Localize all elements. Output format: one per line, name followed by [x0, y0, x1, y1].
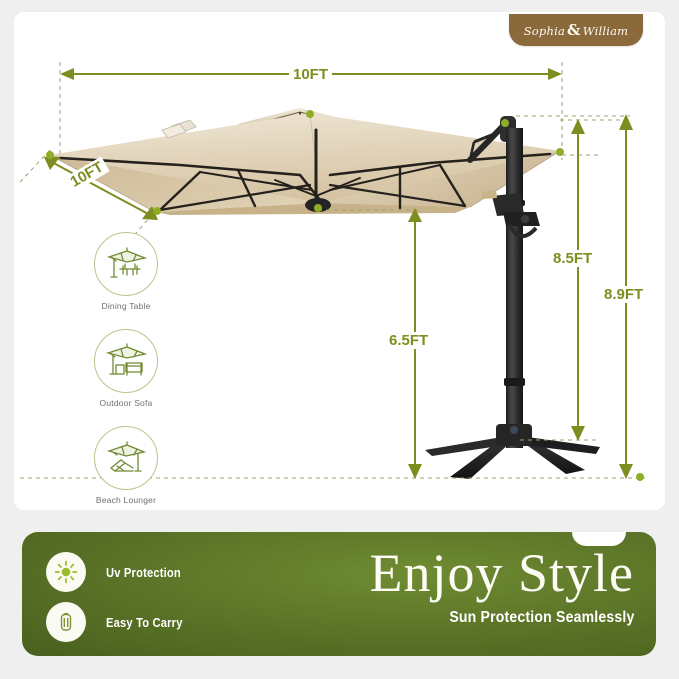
dimension-label-top-width: 10FT [289, 66, 332, 83]
promo-banner: Uv Protection Easy To Carry [22, 532, 656, 656]
beach-lounger-icon-circle [94, 426, 158, 490]
use-case-outdoor-sofa: Outdoor Sofa [80, 329, 172, 408]
outdoor-sofa-icon-circle [94, 329, 158, 393]
sun-icon-circle [46, 552, 86, 592]
dining-table-icon [103, 244, 149, 284]
infographic-page: Sophia&William [0, 0, 679, 679]
dimension-label-pole-height: 8.5FT [549, 250, 596, 267]
use-case-beach-lounger: Beach Lounger [80, 426, 172, 505]
banner-headline: Enjoy Style [370, 546, 635, 600]
use-case-label: Beach Lounger [80, 495, 172, 505]
feature-easy-to-carry: Easy To Carry [46, 600, 195, 644]
feature-label: Easy To Carry [106, 615, 183, 630]
carry-bag-icon-circle [46, 602, 86, 642]
carry-bag-icon [54, 610, 78, 634]
use-case-list: Dining Table [80, 232, 172, 523]
use-case-label: Dining Table [80, 301, 172, 311]
banner-headline-block: Enjoy Style Sun Protection Seamlessly [370, 546, 635, 627]
banner-subheadline: Sun Protection Seamlessly [401, 609, 634, 627]
dimension-label-canopy-height: 6.5FT [385, 332, 432, 349]
dining-table-icon-circle [94, 232, 158, 296]
feature-label: Uv Protection [106, 565, 181, 580]
sun-icon [54, 560, 78, 584]
use-case-dining-table: Dining Table [80, 232, 172, 311]
dimension-label-total-height: 8.9FT [600, 286, 647, 303]
dimension-label-side-width: 10FT [64, 156, 110, 192]
outdoor-sofa-icon [103, 341, 149, 381]
feature-list: Uv Protection Easy To Carry [46, 550, 195, 650]
feature-uv-protection: Uv Protection [46, 550, 195, 594]
beach-lounger-icon [103, 438, 149, 478]
use-case-label: Outdoor Sofa [80, 398, 172, 408]
